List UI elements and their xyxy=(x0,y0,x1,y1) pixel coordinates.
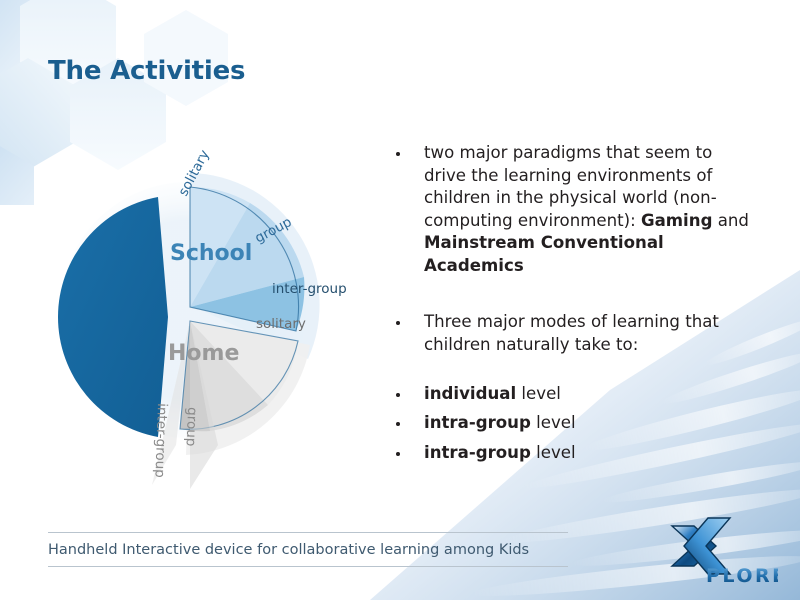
logo-wordmark: PLORE xyxy=(706,565,778,587)
footer-text: Handheld Interactive device for collabor… xyxy=(48,542,568,558)
page-title: The Activities xyxy=(48,56,245,86)
bullet-run: level xyxy=(531,443,576,462)
school-label: School xyxy=(170,241,252,266)
bullet-run-bold: Gaming xyxy=(641,211,713,230)
bullet-run: level xyxy=(516,384,561,403)
school-intergroup-label: inter-group xyxy=(272,281,347,297)
bullet-run-bold: individual xyxy=(424,384,516,403)
bullet-item-intra-group-1: intra-group level xyxy=(386,412,758,435)
segment-highlight xyxy=(58,197,168,437)
xplore-logo-svg: PLORE xyxy=(654,512,778,588)
bullet-run-bold: intra-group xyxy=(424,443,531,462)
home-intergroup-label: inter-group xyxy=(151,403,170,478)
bullet-run: and xyxy=(712,211,749,230)
pie-diagram-svg: School Home solitary group inter-group s… xyxy=(40,145,400,515)
footer-rule-top xyxy=(48,532,568,533)
xplore-logo: PLORE xyxy=(654,512,778,588)
footer-rule-bottom xyxy=(48,566,568,567)
bullet-item-paradigms: two major paradigms that seem to drive t… xyxy=(386,142,758,277)
bullet-run: Three major modes of learning that child… xyxy=(424,312,719,354)
slide-canvas: The Activities xyxy=(0,0,800,600)
footer: Handheld Interactive device for collabor… xyxy=(48,532,568,567)
home-group-label: group xyxy=(183,407,200,447)
bullet-run-bold: intra-group xyxy=(424,413,531,432)
home-label: Home xyxy=(168,341,239,366)
home-solitary-label: solitary xyxy=(256,316,306,332)
learning-modes-diagram: School Home solitary group inter-group s… xyxy=(40,145,400,515)
bullet-item-individual: individual level xyxy=(386,383,758,406)
bullet-run-bold: Mainstream Conventional Academics xyxy=(424,233,664,275)
bullet-list: two major paradigms that seem to drive t… xyxy=(386,142,758,464)
bullet-item-intra-group-2: intra-group level xyxy=(386,442,758,465)
bullet-item-modes: Three major modes of learning that child… xyxy=(386,311,758,356)
bullet-run: level xyxy=(531,413,576,432)
